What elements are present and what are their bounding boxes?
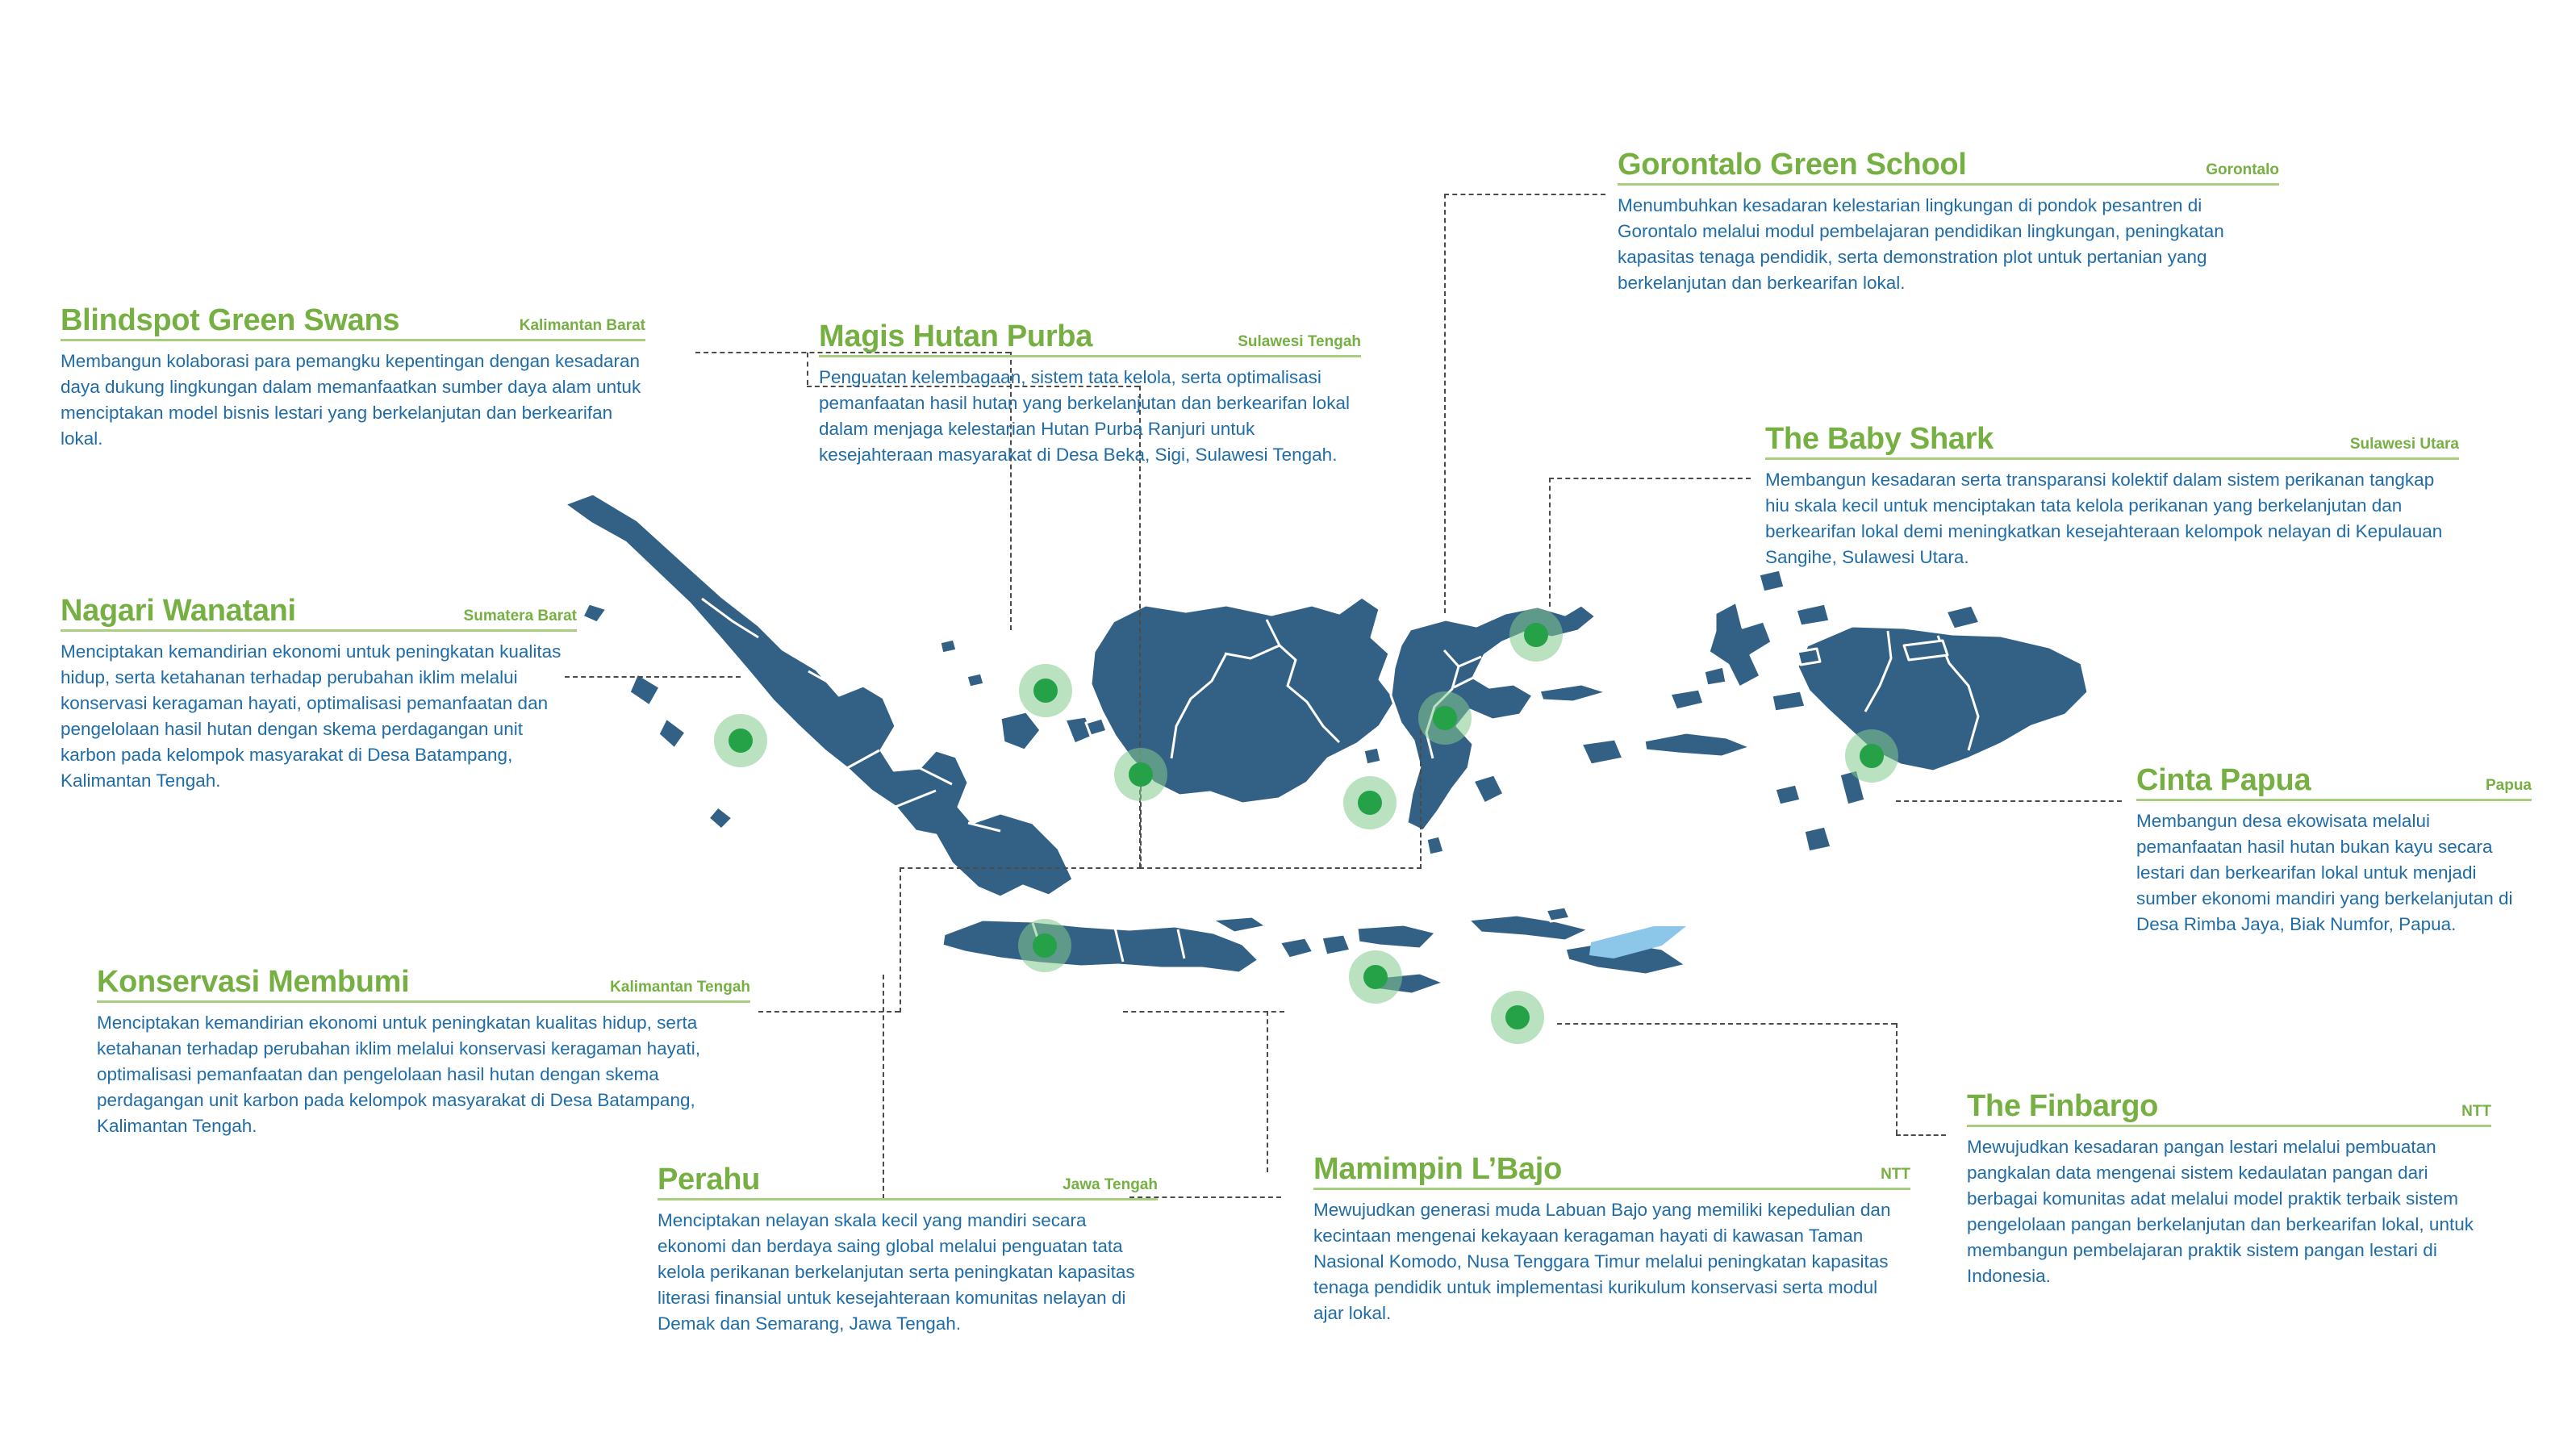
island-selayar bbox=[1426, 836, 1444, 855]
callout-region: NTT bbox=[1860, 1166, 1910, 1186]
island-laut bbox=[1363, 747, 1381, 765]
callout-header: Gorontalo Green School Gorontalo bbox=[1618, 149, 2279, 186]
island-salawati bbox=[1797, 649, 1820, 665]
island-obi bbox=[1670, 689, 1704, 710]
callout-title: Konservasi Membumi bbox=[97, 967, 409, 999]
callout-body: Membangun kolaborasi para pemangku kepen… bbox=[61, 349, 645, 452]
callout-header: Mamimpin L’Bajo NTT bbox=[1313, 1154, 1910, 1190]
callout-region: Papua bbox=[2465, 777, 2532, 797]
leader-finbargo-h2 bbox=[1896, 1134, 1946, 1136]
callout-region: Jawa Tengah bbox=[1042, 1176, 1158, 1196]
island-seram bbox=[1644, 733, 1751, 757]
island-yapen bbox=[1904, 641, 1948, 660]
callout-gorontalo-green-school[interactable]: Gorontalo Green School Gorontalo Menumbu… bbox=[1618, 149, 2279, 296]
callout-title: Perahu bbox=[658, 1164, 760, 1196]
callout-title: Magis Hutan Purba bbox=[819, 321, 1092, 353]
marker-dot-icon bbox=[1524, 623, 1548, 647]
leader-magis-v2 bbox=[1420, 730, 1422, 869]
leader-gorontalo-h bbox=[1444, 194, 1605, 195]
marker-dot-icon bbox=[1033, 933, 1057, 958]
island-bangka bbox=[1000, 712, 1041, 750]
leader-lbajo-v bbox=[1267, 1011, 1268, 1172]
callout-body: Penguatan kelembagaan, sistem tata kelol… bbox=[819, 365, 1361, 468]
marker-dot-icon bbox=[1860, 744, 1884, 768]
island-sula bbox=[1539, 684, 1607, 702]
marker-dot-icon bbox=[1358, 791, 1382, 815]
callout-title: Blindspot Green Swans bbox=[61, 305, 399, 337]
leader-papua-h bbox=[1896, 800, 2122, 802]
island-tanimbar bbox=[1804, 826, 1831, 852]
callout-the-baby-shark[interactable]: The Baby Shark Sulawesi Utara Membangun … bbox=[1765, 424, 2459, 570]
leader-konservasi-v bbox=[900, 867, 901, 1013]
marker-dot-icon bbox=[1129, 762, 1153, 787]
callout-region: Sulawesi Tengah bbox=[1217, 333, 1361, 353]
island-java bbox=[942, 920, 1259, 973]
island-bali bbox=[1280, 937, 1313, 958]
callout-the-finbargo[interactable]: The Finbargo NTT Mewujudkan kesadaran pa… bbox=[1967, 1091, 2491, 1289]
callout-konservasi-membumi[interactable]: Konservasi Membumi Kalimantan Tengah Men… bbox=[97, 967, 750, 1139]
callout-blindspot-green-swans[interactable]: Blindspot Green Swans Kalimantan Barat M… bbox=[61, 305, 645, 452]
island-buru bbox=[1581, 739, 1623, 765]
callout-body: Menciptakan nelayan skala kecil yang man… bbox=[658, 1208, 1158, 1337]
island-buton bbox=[1473, 775, 1504, 804]
island-alor bbox=[1546, 907, 1570, 921]
marker-dot-icon bbox=[729, 729, 753, 753]
callout-title: The Baby Shark bbox=[1765, 424, 1994, 456]
callout-region: Kalimantan Barat bbox=[499, 317, 645, 337]
callout-title: Gorontalo Green School bbox=[1618, 149, 1967, 182]
callout-mamimpin-lbajo[interactable]: Mamimpin L’Bajo NTT Mewujudkan generasi … bbox=[1313, 1154, 1910, 1326]
marker-dot-icon bbox=[1363, 965, 1388, 989]
callout-body: Menumbuhkan kesadaran kelestarian lingku… bbox=[1618, 193, 2279, 296]
callout-body: Menciptakan kemandirian ekonomi untuk pe… bbox=[61, 639, 577, 794]
marker-dot-icon bbox=[1033, 679, 1058, 703]
callout-header: Konservasi Membumi Kalimantan Tengah bbox=[97, 967, 750, 1003]
callout-body: Menciptakan kemandirian ekonomi untuk pe… bbox=[97, 1010, 750, 1139]
island-misool bbox=[1772, 691, 1806, 712]
leader-magis-v0 bbox=[807, 353, 808, 385]
callout-header: Perahu Jawa Tengah bbox=[658, 1164, 1158, 1201]
callout-region: Kalimantan Tengah bbox=[589, 979, 750, 999]
small-islet-b bbox=[940, 639, 957, 654]
island-morotai bbox=[1759, 570, 1785, 592]
callout-title: The Finbargo bbox=[1967, 1091, 2158, 1123]
callout-perahu[interactable]: Perahu Jawa Tengah Menciptakan nelayan s… bbox=[658, 1164, 1158, 1337]
callout-body: Membangun desa ekowisata melalui pemanfa… bbox=[2136, 808, 2532, 937]
callout-body: Mewujudkan generasi muda Labuan Bajo yan… bbox=[1313, 1197, 1910, 1326]
leader-babyshark-h bbox=[1549, 478, 1751, 479]
callout-body: Membangun kesadaran serta transparansi k… bbox=[1765, 467, 2459, 570]
leader-konservasi-h2 bbox=[900, 867, 1142, 869]
island-flores bbox=[1468, 915, 1589, 941]
island-biak bbox=[1946, 605, 1980, 629]
island-siberut bbox=[629, 674, 660, 706]
callout-region: Sumatera Barat bbox=[443, 608, 577, 628]
island-mentawai bbox=[658, 718, 686, 749]
island-bacan bbox=[1704, 666, 1726, 686]
leader-nagari-h bbox=[565, 676, 741, 678]
callout-header: The Finbargo NTT bbox=[1967, 1091, 2491, 1127]
callout-header: The Baby Shark Sulawesi Utara bbox=[1765, 424, 2459, 460]
infographic-canvas: Blindspot Green Swans Kalimantan Barat M… bbox=[0, 0, 2576, 1449]
island-lombok bbox=[1321, 934, 1351, 955]
leader-lbajo-h1 bbox=[1123, 1011, 1284, 1013]
leader-babyshark-v bbox=[1549, 478, 1551, 607]
leader-finbargo-h bbox=[1557, 1023, 1896, 1025]
callout-magis-hutan-purba[interactable]: Magis Hutan Purba Sulawesi Tengah Pengua… bbox=[819, 321, 1361, 468]
island-enggano bbox=[708, 807, 733, 829]
callout-nagari-wanatani[interactable]: Nagari Wanatani Sumatera Barat Menciptak… bbox=[61, 595, 577, 794]
callout-title: Mamimpin L’Bajo bbox=[1313, 1154, 1562, 1186]
callout-region: NTT bbox=[2440, 1103, 2491, 1123]
island-kei bbox=[1775, 784, 1801, 805]
callout-region: Sulawesi Utara bbox=[2329, 436, 2459, 456]
marker-dot-icon bbox=[1433, 706, 1457, 730]
island-waigeo bbox=[1796, 603, 1830, 626]
island-nias bbox=[582, 603, 607, 623]
leader-konservasi-h bbox=[758, 1011, 900, 1013]
leader-finbargo-v bbox=[1896, 1023, 1898, 1134]
leader-gorontalo-v bbox=[1444, 194, 1446, 613]
callout-body: Mewujudkan kesadaran pangan lestari mela… bbox=[1967, 1134, 2491, 1289]
small-islet-a bbox=[967, 673, 984, 687]
callout-region: Gorontalo bbox=[2185, 161, 2279, 182]
callout-cinta-papua[interactable]: Cinta Papua Papua Membangun desa ekowisa… bbox=[2136, 765, 2532, 937]
callout-header: Nagari Wanatani Sumatera Barat bbox=[61, 595, 577, 632]
callout-header: Magis Hutan Purba Sulawesi Tengah bbox=[819, 321, 1361, 357]
island-natuna bbox=[1086, 718, 1107, 736]
marker-dot-icon bbox=[1505, 1005, 1530, 1029]
callout-title: Cinta Papua bbox=[2136, 765, 2311, 797]
callout-header: Cinta Papua Papua bbox=[2136, 765, 2532, 801]
island-sumbawa bbox=[1357, 925, 1436, 949]
callout-title: Nagari Wanatani bbox=[61, 595, 296, 628]
leader-magis-h2 bbox=[1139, 867, 1422, 869]
island-madura bbox=[1212, 917, 1267, 933]
callout-header: Blindspot Green Swans Kalimantan Barat bbox=[61, 305, 645, 341]
